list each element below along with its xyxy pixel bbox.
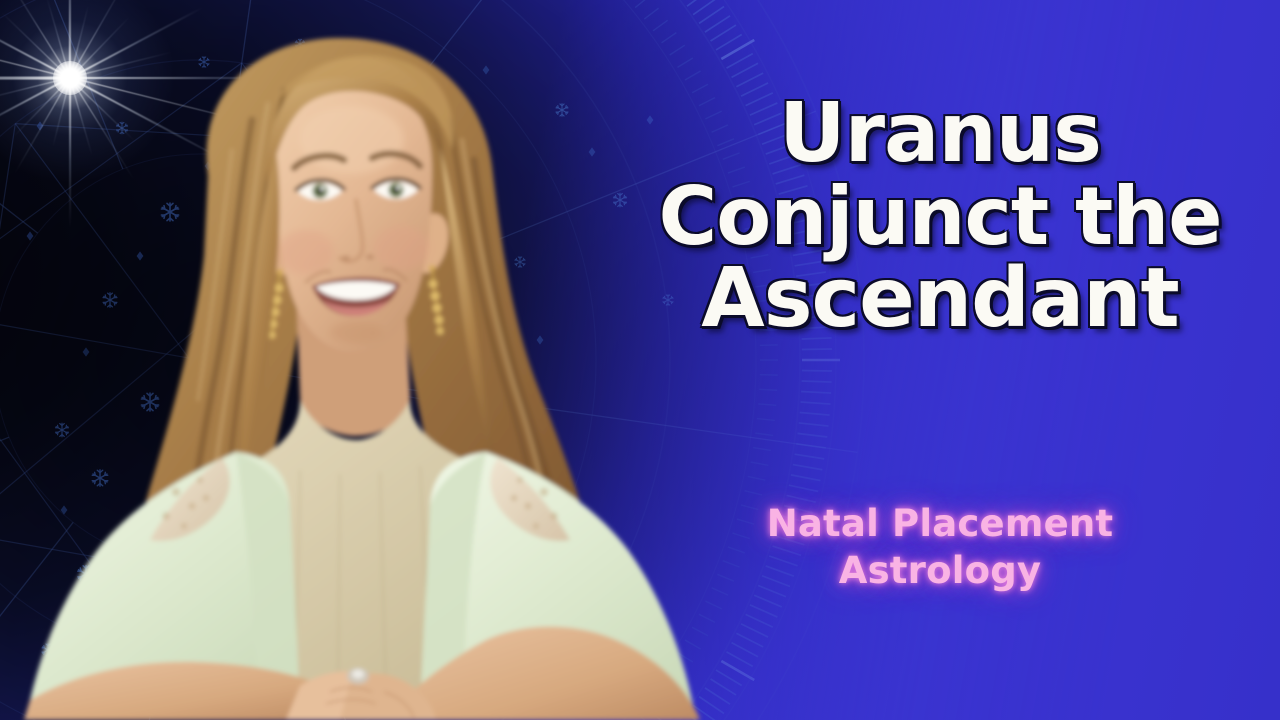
title-line-2: Conjunct the	[640, 176, 1240, 258]
subtitle: Natal Placement Astrology	[640, 500, 1240, 595]
title: Uranus Conjunct the Ascendant	[640, 92, 1240, 341]
subtitle-line-1: Natal Placement	[640, 500, 1240, 547]
woman-portrait-photo	[0, 0, 740, 720]
video-thumbnail: Uranus Conjunct the Ascendant Natal Plac…	[0, 0, 1280, 720]
subtitle-line-2: Astrology	[640, 547, 1240, 594]
title-line-1: Uranus	[640, 92, 1240, 176]
title-line-3: Ascendant	[640, 257, 1240, 341]
